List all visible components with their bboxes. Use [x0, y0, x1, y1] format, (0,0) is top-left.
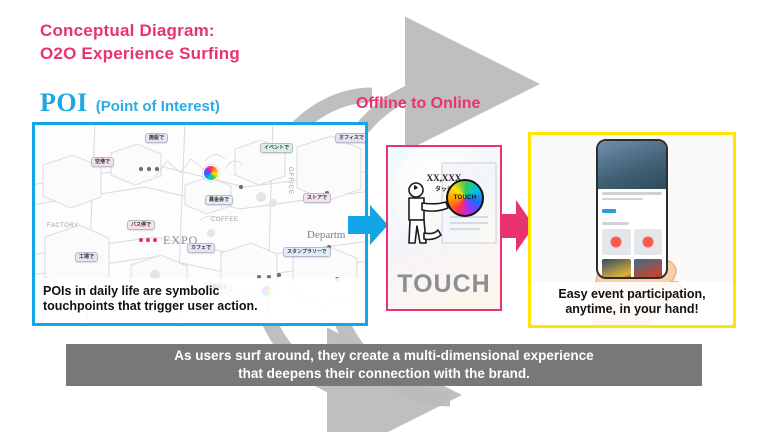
poi-caption: POIs in daily life are symbolic touchpoi…: [35, 278, 365, 323]
phone-thumbnail: [634, 259, 663, 280]
map-pin-icon: [155, 167, 159, 171]
phone-map-cards: [602, 229, 662, 255]
title-line-1: Conceptual Diagram:: [40, 20, 240, 43]
map-pin-icon: [139, 167, 143, 171]
banner-line-1: As users surf around, they create a mult…: [174, 347, 593, 365]
phone-text-line: [602, 192, 662, 195]
poi-tag: 空港で: [91, 157, 114, 167]
poi-panel: EXPO Departm OFFICE FACTORY COFFEE 施設で空港…: [32, 122, 368, 326]
poi-caption-line-1: POIs in daily life are symbolic: [43, 284, 357, 300]
poi-expansion: (Point of Interest): [96, 98, 220, 115]
map-label-department: Departm: [307, 229, 345, 241]
map-pin-icon: [642, 236, 653, 247]
phone-map-card: [634, 229, 663, 255]
map-pin-icon: [146, 238, 150, 242]
map-pin-icon: [239, 185, 243, 189]
smartphone-icon: [596, 139, 668, 279]
phone-hero-image: [598, 141, 666, 189]
phone-text-line: [602, 198, 643, 201]
poi-tag: オフィスで: [335, 133, 368, 143]
offline-to-online-heading: Offline to Online: [356, 95, 480, 113]
phone-chip: [602, 209, 616, 213]
poi-tag: 工場で: [75, 252, 98, 262]
map-label-coffee: COFFEE: [211, 217, 238, 223]
poi-abbrev: POI: [40, 88, 88, 118]
poi-tag: スタンプラリーで: [283, 247, 331, 257]
poi-tag: カフェで: [187, 243, 215, 253]
arrow-offline-to-touch-icon: [348, 203, 388, 247]
phone-panel: Easy event participation, anytime, in yo…: [528, 132, 736, 328]
diagram-canvas: Conceptual Diagram: O2O Experience Surfi…: [0, 0, 768, 432]
map-pin-icon: [147, 167, 151, 171]
poi-tag: 募金会で: [205, 195, 233, 205]
map-pin-icon: [139, 238, 143, 242]
map-pin-icon: [277, 273, 281, 277]
touch-badge-label: TOUCH: [454, 195, 477, 201]
map-pin-icon: [153, 238, 157, 242]
touch-panel: XX,XXX タッチ TOUCH TOUCH: [386, 145, 502, 311]
poi-tag: バス停で: [127, 220, 155, 230]
map-label-factory: FACTORY: [47, 223, 79, 229]
phone-thumbnail: [602, 259, 631, 280]
phone-map-card: [602, 229, 631, 255]
title-line-2: O2O Experience Surfing: [40, 43, 240, 66]
poi-heading: POI (Point of Interest): [40, 88, 220, 118]
poi-tag: 施設で: [145, 133, 168, 143]
touch-word: TOUCH: [388, 270, 500, 299]
poi-tag: ストアで: [303, 193, 331, 203]
phone-text-line: [602, 222, 629, 225]
phone-caption-line-2: anytime, in your hand!: [537, 302, 727, 318]
summary-banner-text: As users surf around, they create a mult…: [174, 347, 593, 383]
phone-thumbnails: [602, 259, 662, 280]
poi-caption-line-2: touchpoints that trigger user action.: [43, 299, 357, 315]
map-label-office: OFFICE: [287, 167, 293, 195]
banner-line-2: that deepens their connection with the b…: [174, 365, 593, 383]
rainbow-touch-icon: [203, 165, 219, 181]
phone-caption: Easy event participation, anytime, in yo…: [531, 282, 733, 325]
rainbow-touch-icon: TOUCH: [446, 179, 484, 217]
page-title: Conceptual Diagram: O2O Experience Surfi…: [40, 20, 240, 66]
summary-banner: As users surf around, they create a mult…: [66, 344, 702, 386]
phone-caption-line-1: Easy event participation,: [537, 287, 727, 303]
map-pin-icon: [611, 236, 622, 247]
poi-tag: イベントで: [260, 143, 293, 153]
